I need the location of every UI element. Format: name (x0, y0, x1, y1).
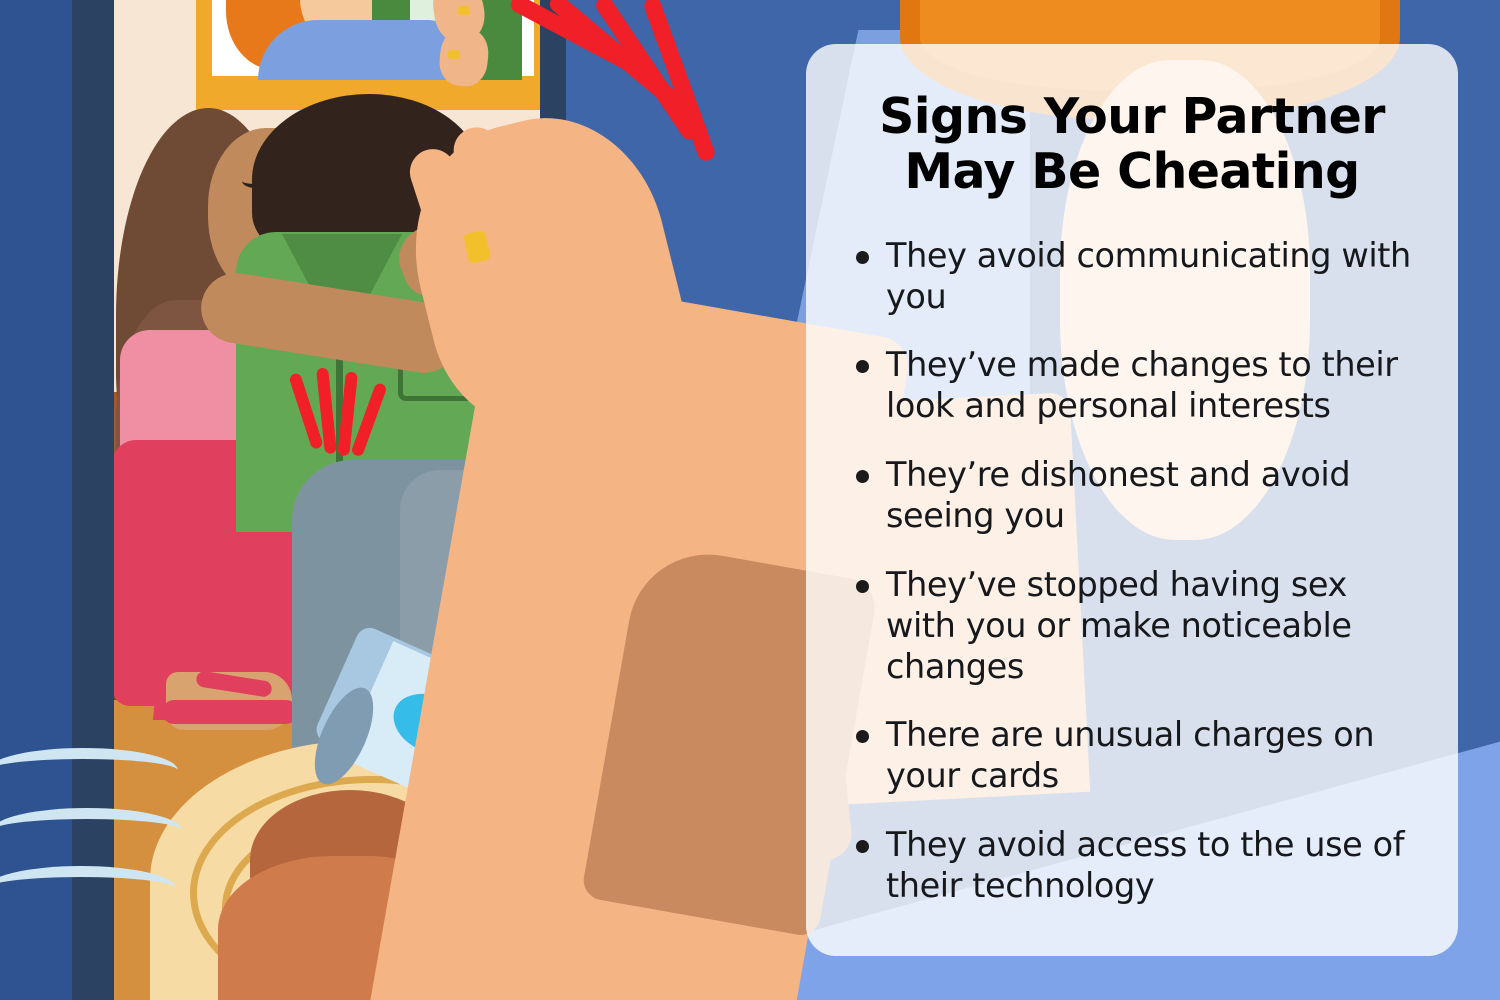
list-item: They’re dishonest and avoid seeing you (852, 455, 1412, 537)
list-item: There are unusual charges on your cards (852, 715, 1412, 797)
kissing-man-closed-eye (288, 186, 328, 202)
frame-photo-woman-shirt (258, 20, 458, 80)
list-item: They’ve made changes to their look and p… (852, 345, 1412, 427)
page-title: Signs Your Partner May Be Cheating (852, 90, 1412, 200)
list-item: They avoid communicating with you (852, 236, 1412, 318)
text-panel: Signs Your Partner May Be Cheating They … (806, 44, 1458, 956)
list-item: They avoid access to the use of their te… (852, 825, 1412, 907)
list-item: They’ve stopped having sex with you or m… (852, 565, 1412, 688)
infographic-canvas: Signs Your Partner May Be Cheating They … (0, 0, 1500, 1000)
frame-photo-ring-lower (448, 50, 460, 59)
frame-photo-ring-upper (458, 6, 470, 15)
signs-list: They avoid communicating with you They’v… (852, 236, 1412, 907)
sound-wave-2 (0, 808, 182, 853)
kissing-woman-sandal-sole (162, 700, 298, 724)
